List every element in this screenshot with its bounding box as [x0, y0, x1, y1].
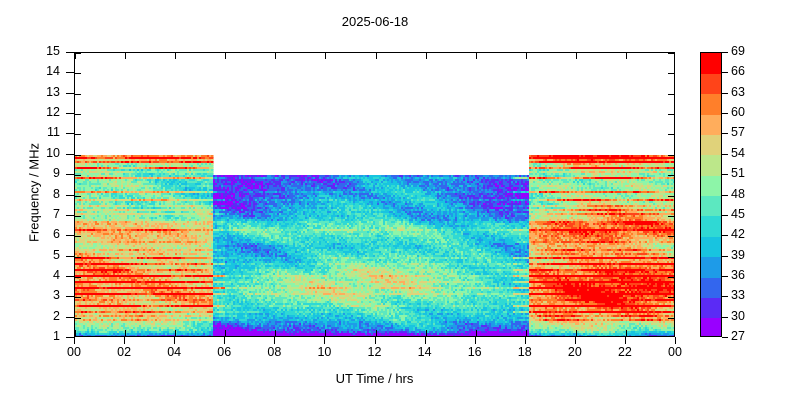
y-tick-inner [75, 297, 81, 298]
colorbar-tick [722, 72, 728, 73]
x-tick-inner-top [225, 53, 226, 59]
y-tick [66, 133, 74, 134]
x-tick-inner-top [376, 53, 377, 59]
y-tick-inner [75, 114, 81, 115]
x-tick [174, 337, 175, 344]
colorbar-tick [722, 133, 728, 134]
colorbar-tick [722, 337, 728, 338]
x-tick-inner [125, 330, 126, 336]
x-tick-inner-top [576, 53, 577, 59]
y-axis-label: Frequency / MHz [27, 93, 42, 293]
colorbar-band [701, 73, 721, 94]
x-tick [525, 337, 526, 344]
y-tick-inner-right [668, 155, 674, 156]
x-tick [375, 337, 376, 344]
x-tick-label: 12 [355, 345, 395, 359]
colorbar-tick-label: 36 [731, 269, 745, 281]
x-tick-inner [376, 330, 377, 336]
x-tick-label: 00 [655, 345, 695, 359]
colorbar-band [701, 196, 721, 217]
y-tick-inner-right [668, 297, 674, 298]
x-tick [124, 337, 125, 344]
x-tick-inner-top [476, 53, 477, 59]
x-tick-label: 00 [54, 345, 94, 359]
y-tick [66, 317, 74, 318]
x-tick-inner-top [526, 53, 527, 59]
colorbar-tick [722, 174, 728, 175]
colorbar-tick-label: 66 [731, 65, 745, 77]
y-tick-label: 1 [20, 330, 60, 342]
y-tick-inner [75, 73, 81, 74]
colorbar-tick [722, 317, 728, 318]
x-tick [575, 337, 576, 344]
x-tick-inner [576, 330, 577, 336]
x-tick-inner [175, 330, 176, 336]
x-tick-inner [426, 330, 427, 336]
y-tick-inner-right [668, 216, 674, 217]
y-tick-label: 14 [20, 65, 60, 77]
x-tick-label: 16 [455, 345, 495, 359]
y-tick [66, 154, 74, 155]
x-tick [625, 337, 626, 344]
y-tick-inner-right [668, 277, 674, 278]
colorbar-band [701, 114, 721, 135]
y-tick-inner-right [668, 236, 674, 237]
y-tick [66, 72, 74, 73]
y-tick-label: 15 [20, 45, 60, 57]
colorbar-band [701, 318, 721, 337]
colorbar-tick [722, 113, 728, 114]
y-tick [66, 256, 74, 257]
colorbar-band [701, 236, 721, 257]
y-tick-inner [75, 155, 81, 156]
y-tick-inner [75, 175, 81, 176]
y-tick-inner-right [668, 196, 674, 197]
y-tick [66, 215, 74, 216]
x-tick-label: 10 [304, 345, 344, 359]
x-tick-inner-top [125, 53, 126, 59]
colorbar-tick-label: 60 [731, 106, 745, 118]
colorbar-tick-label: 51 [731, 167, 745, 179]
colorbar-band [701, 94, 721, 115]
x-tick-inner [476, 330, 477, 336]
y-tick [66, 113, 74, 114]
colorbar-tick [722, 296, 728, 297]
x-tick-inner [626, 330, 627, 336]
y-tick-inner-right [668, 73, 674, 74]
colorbar-tick [722, 276, 728, 277]
x-tick-label: 14 [405, 345, 445, 359]
x-tick-inner-top [75, 53, 76, 59]
x-tick-inner-top [275, 53, 276, 59]
colorbar-band [701, 216, 721, 237]
x-axis-label: UT Time / hrs [74, 371, 675, 386]
x-tick-inner-top [426, 53, 427, 59]
x-tick-inner [325, 330, 326, 336]
y-tick [66, 337, 74, 338]
y-tick-inner-right [668, 94, 674, 95]
colorbar-band [701, 277, 721, 298]
colorbar-tick [722, 154, 728, 155]
x-tick-label: 08 [254, 345, 294, 359]
colorbar[interactable] [700, 52, 722, 337]
y-tick-inner-right [668, 114, 674, 115]
plot-area[interactable] [74, 52, 675, 337]
colorbar-tick-label: 57 [731, 126, 745, 138]
y-tick [66, 174, 74, 175]
colorbar-tick [722, 256, 728, 257]
colorbar-band [701, 53, 721, 74]
colorbar-band [701, 257, 721, 278]
y-tick-inner [75, 216, 81, 217]
y-tick-inner [75, 236, 81, 237]
x-tick-inner [75, 330, 76, 336]
colorbar-tick-label: 69 [731, 45, 745, 57]
x-tick [274, 337, 275, 344]
x-tick-inner [526, 330, 527, 336]
colorbar-tick-label: 54 [731, 147, 745, 159]
x-tick-label: 04 [154, 345, 194, 359]
x-tick-inner-top [325, 53, 326, 59]
colorbar-tick [722, 93, 728, 94]
spectrogram-figure: 2025-06-18 123456789101112131415 0002040… [0, 0, 800, 400]
y-tick [66, 235, 74, 236]
colorbar-tick [722, 195, 728, 196]
x-tick-inner-top [626, 53, 627, 59]
colorbar-tick [722, 215, 728, 216]
x-tick-label: 02 [104, 345, 144, 359]
x-tick [74, 337, 75, 344]
colorbar-band [701, 297, 721, 318]
y-tick-inner [75, 134, 81, 135]
x-tick-label: 06 [204, 345, 244, 359]
y-tick [66, 296, 74, 297]
y-tick-inner-right [668, 257, 674, 258]
y-tick [66, 52, 74, 53]
y-tick-inner-right [668, 175, 674, 176]
y-tick-inner-right [668, 53, 674, 54]
heatmap-canvas[interactable] [75, 53, 675, 337]
colorbar-tick-label: 27 [731, 330, 745, 342]
y-tick-inner-right [668, 318, 674, 319]
y-tick-inner [75, 277, 81, 278]
y-tick-inner-right [668, 134, 674, 135]
x-tick [425, 337, 426, 344]
y-tick-label: 2 [20, 310, 60, 322]
colorbar-tick-label: 48 [731, 188, 745, 200]
colorbar-tick [722, 235, 728, 236]
colorbar-band [701, 134, 721, 155]
chart-title: 2025-06-18 [0, 14, 750, 29]
y-tick-inner [75, 257, 81, 258]
colorbar-tick [722, 52, 728, 53]
x-tick-label: 20 [555, 345, 595, 359]
x-tick [324, 337, 325, 344]
y-tick-inner [75, 196, 81, 197]
colorbar-band [701, 155, 721, 176]
y-tick-inner [75, 94, 81, 95]
colorbar-tick-label: 45 [731, 208, 745, 220]
x-tick-inner-top [175, 53, 176, 59]
y-tick [66, 93, 74, 94]
y-tick-inner [75, 318, 81, 319]
colorbar-tick-label: 39 [731, 249, 745, 261]
y-tick [66, 276, 74, 277]
x-tick-inner [225, 330, 226, 336]
x-tick-label: 22 [605, 345, 645, 359]
x-tick [475, 337, 476, 344]
colorbar-tick-label: 63 [731, 86, 745, 98]
colorbar-tick-label: 30 [731, 310, 745, 322]
x-tick-label: 18 [505, 345, 545, 359]
y-tick [66, 195, 74, 196]
x-tick [675, 337, 676, 344]
colorbar-tick-label: 42 [731, 228, 745, 240]
colorbar-tick-label: 33 [731, 289, 745, 301]
x-tick-inner [275, 330, 276, 336]
x-tick [224, 337, 225, 344]
colorbar-band [701, 175, 721, 196]
